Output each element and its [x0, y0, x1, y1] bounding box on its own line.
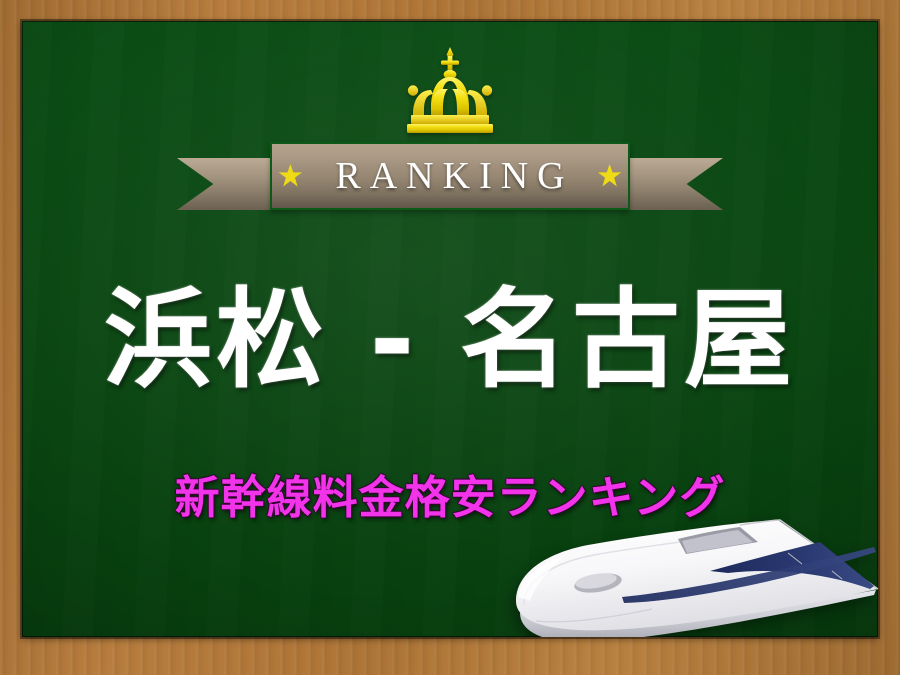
- star-icon-left: [278, 164, 302, 188]
- page-subtitle: 新幹線料金格安ランキング: [22, 473, 878, 523]
- poster-frame: RANKING 浜松 - 名古屋 新幹線料金格安ランキング: [0, 0, 900, 675]
- page-title: 浜松 - 名古屋: [22, 283, 878, 400]
- ranking-label: RANKING: [326, 157, 573, 195]
- crown-icon: [22, 45, 878, 137]
- chalkboard-panel: RANKING 浜松 - 名古屋 新幹線料金格安ランキング: [22, 21, 878, 637]
- ranking-ribbon: RANKING: [22, 133, 878, 219]
- star-icon-right: [598, 164, 622, 188]
- ribbon-banner: RANKING: [270, 142, 630, 210]
